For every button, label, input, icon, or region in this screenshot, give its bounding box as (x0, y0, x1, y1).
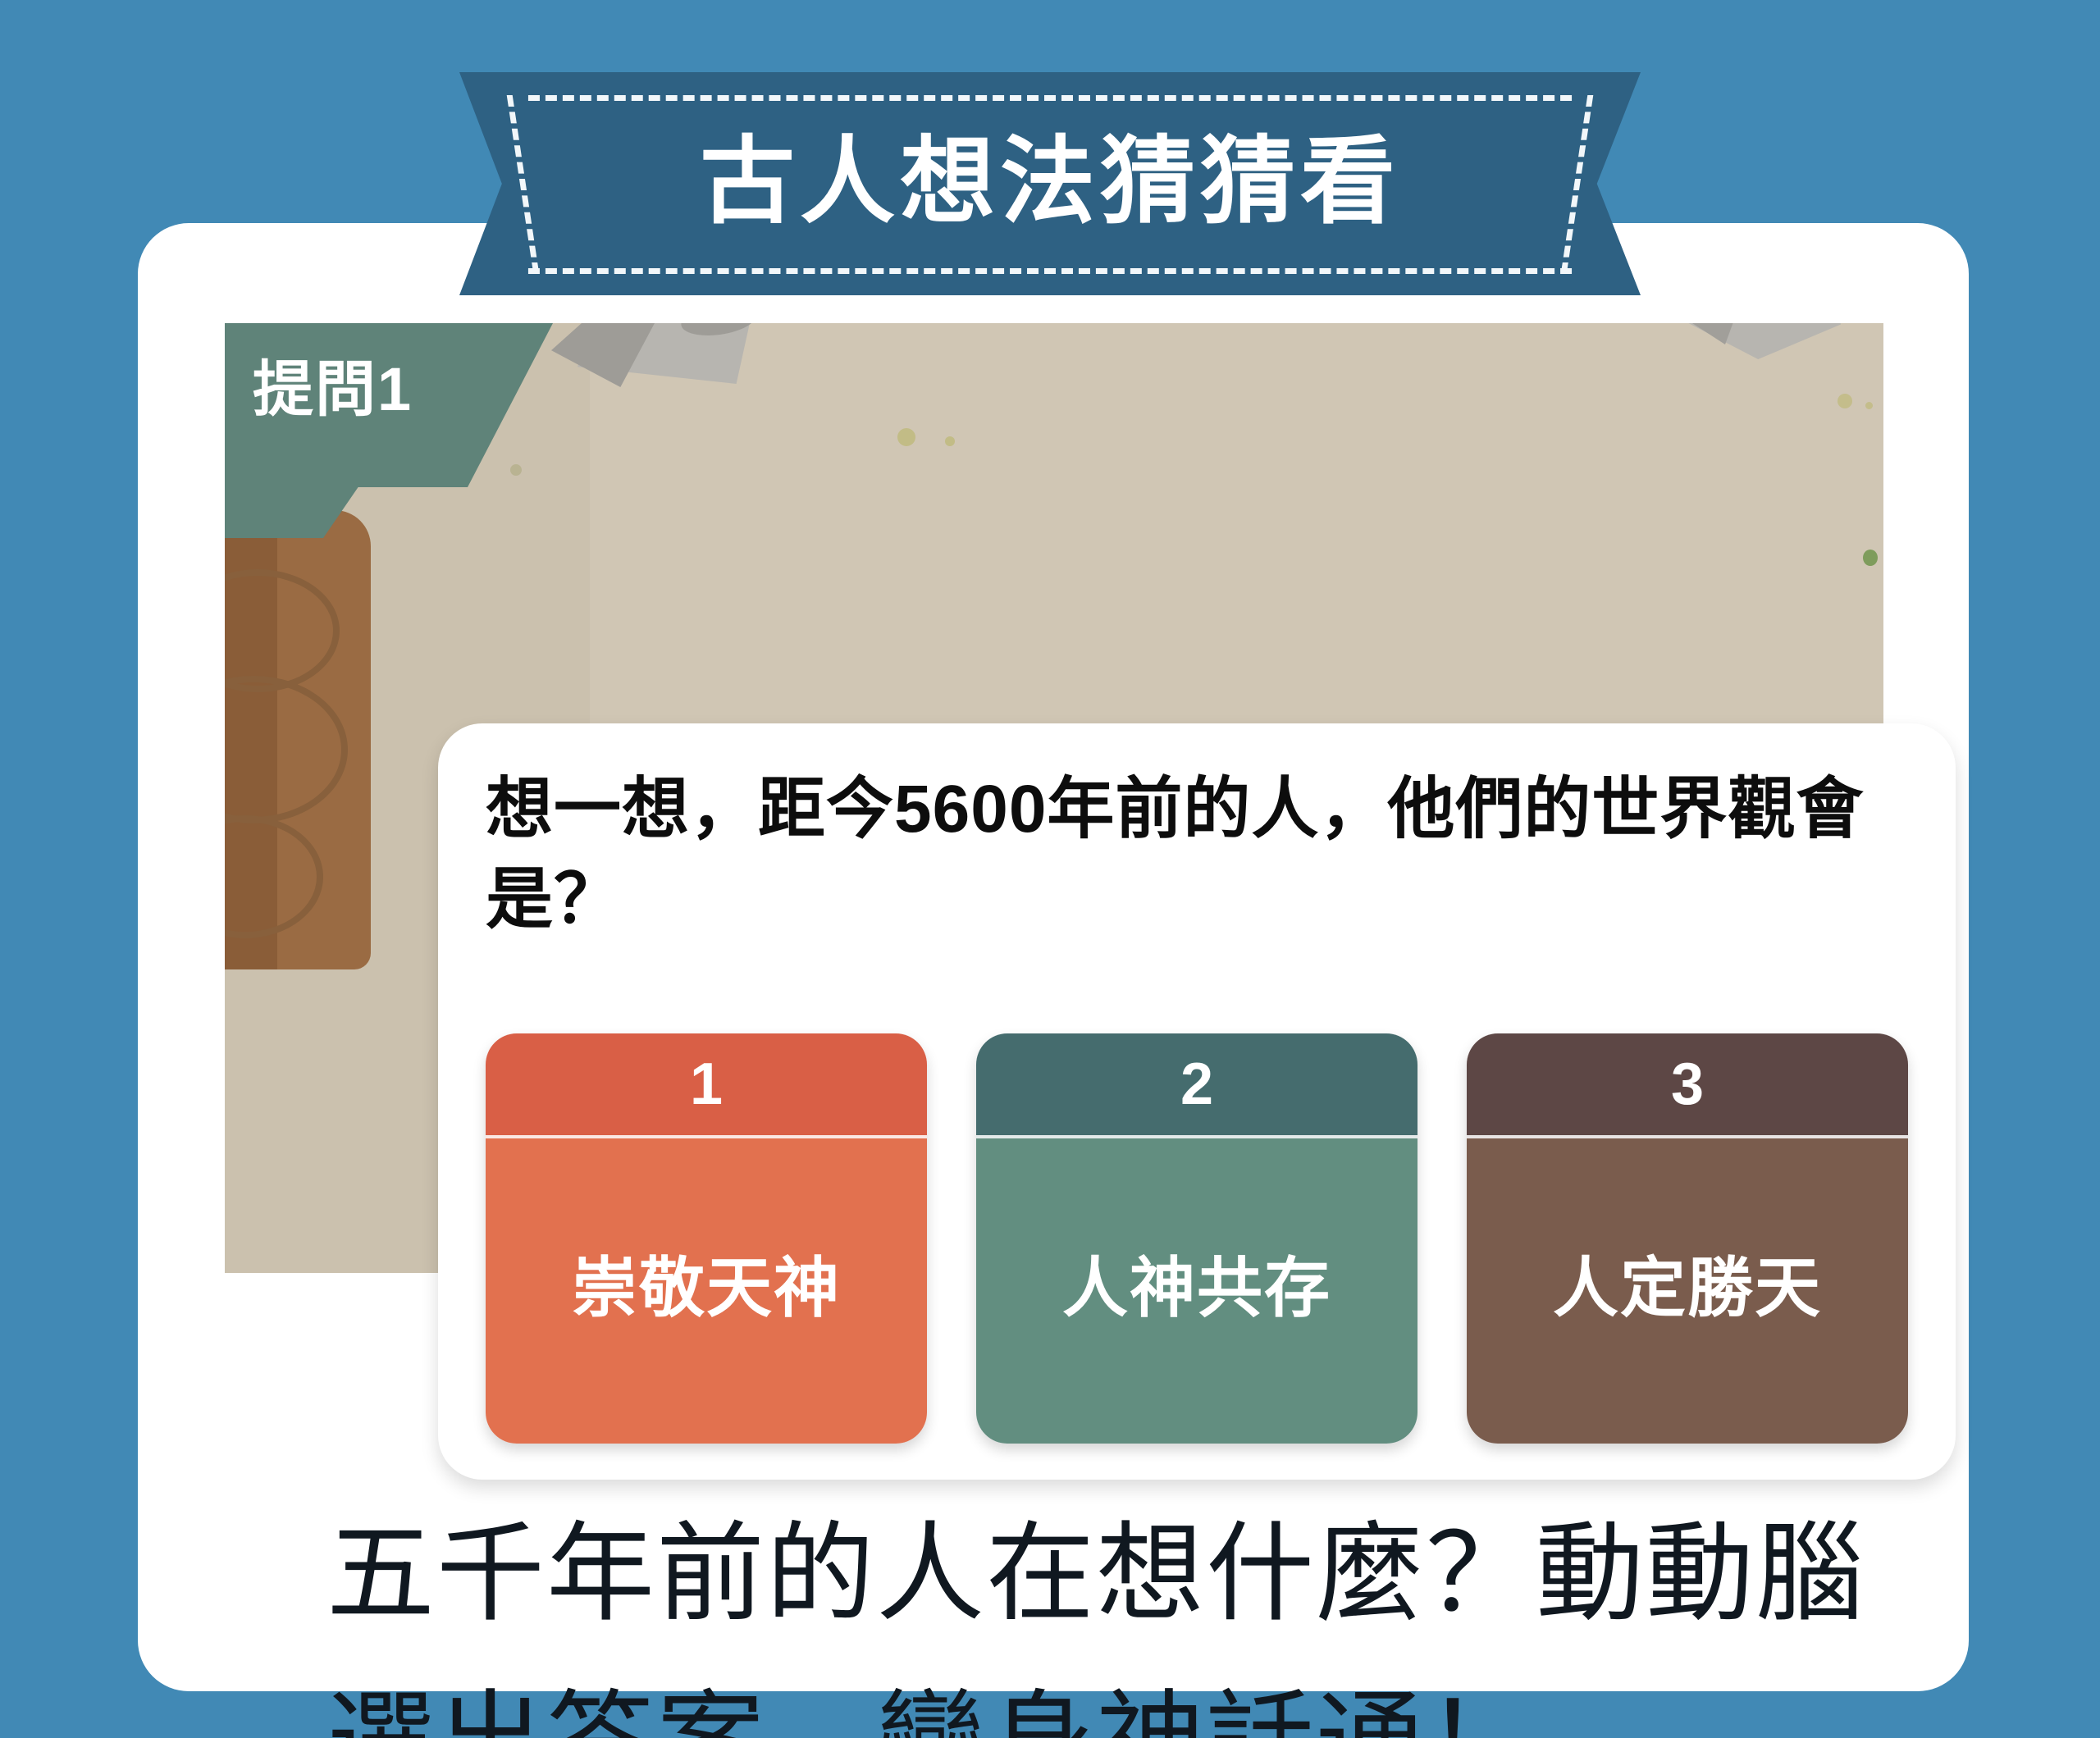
option-label-1: 崇敬天神 (486, 1138, 927, 1444)
pebble-icon (1863, 550, 1878, 566)
caption-line-2: 選出答案，變身神話通！ (326, 1658, 2049, 1738)
option-label-3: 人定勝天 (1467, 1138, 1908, 1444)
pebble-icon (510, 464, 522, 476)
question-tag-label: 提問1 (253, 359, 413, 420)
caption-block: 五千年前的人在想什麼？動動腦 選出答案，變身神話通！ (326, 1490, 2049, 1738)
option-label-2: 人神共存 (976, 1138, 1417, 1444)
title-banner: 古人想法猜猜看 (459, 72, 1641, 295)
question-text: 想一想，距今5600年前的人，他們的世界觀會是？ (486, 764, 1897, 945)
question-card: 想一想，距今5600年前的人，他們的世界觀會是？ 1 崇敬天神 2 人神共存 3… (438, 723, 1956, 1480)
option-number-3: 3 (1467, 1033, 1908, 1138)
option-button-2[interactable]: 2 人神共存 (976, 1033, 1417, 1444)
caption-line-1: 五千年前的人在想什麼？動動腦 (326, 1490, 2049, 1658)
pebble-icon (1837, 394, 1852, 408)
option-number-2: 2 (976, 1033, 1417, 1138)
option-button-1[interactable]: 1 崇敬天神 (486, 1033, 927, 1444)
options-row: 1 崇敬天神 2 人神共存 3 人定勝天 (486, 1033, 1908, 1444)
banner-title-text: 古人想法猜猜看 (459, 72, 1641, 295)
pebble-icon (1865, 402, 1873, 409)
pebble-icon (945, 436, 955, 446)
option-number-1: 1 (486, 1033, 927, 1138)
pebble-icon (897, 428, 915, 446)
option-button-3[interactable]: 3 人定勝天 (1467, 1033, 1908, 1444)
main-white-card: 提問1 想一想，距今5600年前的人，他們的世界觀會是？ 1 崇敬天神 2 人神… (138, 223, 1969, 1691)
